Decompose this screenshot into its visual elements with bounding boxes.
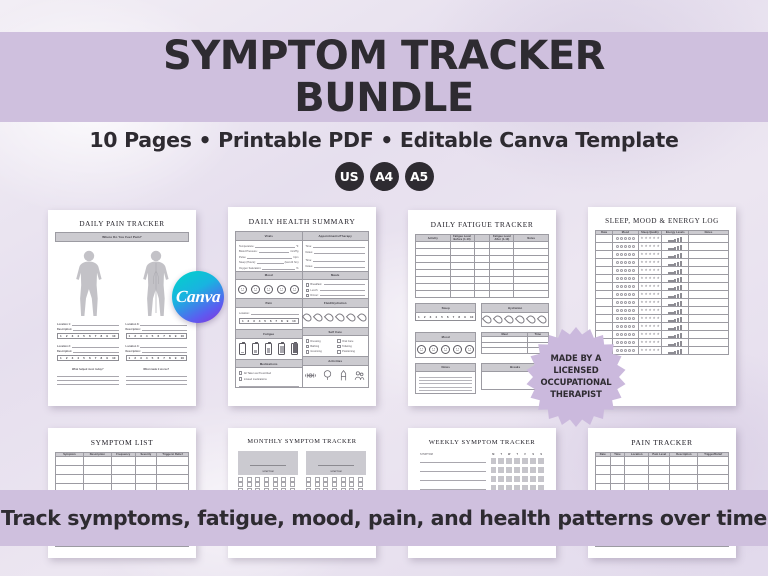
energy-bar-icon[interactable] [668, 320, 670, 322]
battery-level-5-icon[interactable] [291, 343, 298, 355]
calendar-day-cell[interactable] [290, 482, 295, 487]
table-cell[interactable] [649, 466, 670, 475]
calendar-day-cell[interactable] [358, 482, 363, 487]
star-icon[interactable]: ★ [657, 301, 660, 304]
table-row[interactable]: ★★★★★ [596, 243, 729, 251]
energy-bar-icon[interactable] [680, 349, 682, 355]
writing-line[interactable] [126, 381, 188, 385]
cell-notes[interactable] [689, 323, 729, 331]
water-drop-icon[interactable] [302, 312, 313, 323]
cell-date[interactable] [596, 315, 613, 323]
calendar-day-cell[interactable] [264, 477, 269, 482]
table-cell[interactable] [610, 475, 625, 484]
energy-bar-icon[interactable] [674, 343, 676, 347]
writing-line[interactable] [419, 388, 472, 391]
energy-bar-icon[interactable] [677, 334, 679, 339]
calendar-day-cell[interactable] [306, 477, 311, 482]
star-icon[interactable]: ★ [653, 341, 656, 344]
table-row[interactable]: ★★★★★ [596, 251, 729, 259]
energy-bar-icon[interactable] [680, 309, 682, 315]
cell-notes[interactable] [689, 291, 729, 299]
calendar-day-cell[interactable] [349, 482, 354, 487]
weekday-checkbox[interactable] [514, 458, 520, 464]
cell-notes[interactable] [689, 243, 729, 251]
star-icon[interactable]: ★ [640, 333, 643, 336]
energy-bar-icon[interactable] [671, 328, 673, 331]
cell-energy-levels[interactable] [662, 331, 689, 339]
star-icon[interactable]: ★ [653, 301, 656, 304]
star-icon[interactable]: ★ [648, 237, 651, 240]
appt-time-1[interactable]: Time: [306, 245, 366, 248]
energy-bar-icon[interactable] [671, 256, 673, 259]
mood-circle-icon[interactable] [624, 301, 627, 304]
table-cell[interactable] [83, 475, 111, 484]
star-icon[interactable]: ★ [640, 277, 643, 280]
star-icon[interactable]: ★ [644, 317, 647, 320]
cell-notes[interactable] [689, 251, 729, 259]
table-row[interactable] [596, 457, 729, 466]
pain-block[interactable]: Location: 12345678910 [236, 308, 302, 330]
energy-bar-icon[interactable] [674, 287, 676, 291]
table-row[interactable]: ★★★★★ [596, 259, 729, 267]
energy-bar-icon[interactable] [680, 253, 682, 259]
preview-page-daily-health-summary[interactable]: DAILY HEALTH SUMMARY Vitals Temperature:… [228, 207, 376, 406]
calendar-day-cell[interactable] [323, 482, 328, 487]
table-cell[interactable] [111, 457, 135, 466]
location-row-1[interactable]: Location 1: [57, 323, 119, 326]
mood-circle-icon[interactable] [632, 333, 635, 336]
med-option-all-taken[interactable]: All Taken as Prescribed [239, 371, 299, 374]
cell-sleep-quality[interactable]: ★★★★★ [638, 251, 662, 259]
star-icon[interactable]: ★ [657, 293, 660, 296]
energy-bar-icon[interactable] [680, 269, 682, 275]
table-row[interactable]: ★★★★★ [596, 283, 729, 291]
cell-sleep-quality[interactable]: ★★★★★ [638, 243, 662, 251]
table-cell[interactable] [83, 457, 111, 466]
energy-bar-icon[interactable] [674, 263, 676, 267]
cell-mood[interactable] [613, 299, 638, 307]
energy-bar-icon[interactable] [668, 256, 670, 258]
star-icon[interactable]: ★ [648, 253, 651, 256]
fatigue-activity-table[interactable]: Activity Fatigue Level Before (1-10) Fat… [415, 234, 549, 298]
energy-bar-icon[interactable] [668, 272, 670, 274]
table-row[interactable]: ★★★★★ [596, 267, 729, 275]
weekday-checkbox[interactable] [498, 467, 504, 473]
cell-sleep-quality[interactable]: ★★★★★ [638, 291, 662, 299]
table-row[interactable] [416, 249, 549, 256]
star-icon[interactable]: ★ [653, 325, 656, 328]
cell-sleep-quality[interactable]: ★★★★★ [638, 259, 662, 267]
mood-circle-icon[interactable] [632, 317, 635, 320]
self-care-bathing[interactable]: Bathing [306, 345, 334, 348]
mood-circle-icon[interactable] [624, 293, 627, 296]
table-cell[interactable] [610, 457, 625, 466]
vitals-fields[interactable]: Temperature:°F Blood Pressure:mm/Hg Puls… [236, 241, 302, 271]
energy-bar-icon[interactable] [674, 279, 676, 283]
mood-face-row[interactable] [415, 342, 476, 358]
mood-circle-icon[interactable] [620, 309, 623, 312]
cell-notes[interactable] [689, 331, 729, 339]
energy-bar-icon[interactable] [671, 336, 673, 339]
energy-bar-icon[interactable] [680, 341, 682, 347]
cell-notes[interactable] [689, 315, 729, 323]
mood-circle-icon[interactable] [628, 237, 631, 240]
weekday-checkbox[interactable] [506, 458, 512, 464]
weekday-checkbox-row[interactable] [491, 476, 545, 482]
weekday-checkbox-row[interactable] [491, 467, 545, 473]
weekly-symptom-row[interactable] [420, 476, 544, 482]
star-icon[interactable]: ★ [657, 325, 660, 328]
star-icon[interactable]: ★ [657, 277, 660, 280]
cell-sleep-quality[interactable]: ★★★★★ [638, 267, 662, 275]
star-icon[interactable]: ★ [640, 341, 643, 344]
mood-circle-icon[interactable] [624, 269, 627, 272]
star-icon[interactable]: ★ [653, 269, 656, 272]
energy-bar-icon[interactable] [674, 351, 676, 355]
calendar-day-cell[interactable] [358, 477, 363, 482]
water-drop-icon[interactable] [313, 312, 324, 323]
energy-bar-icon[interactable] [668, 296, 670, 298]
mood-circle-icon[interactable] [620, 253, 623, 256]
self-care-grooming[interactable]: Grooming [306, 350, 334, 353]
cell-energy-levels[interactable] [662, 299, 689, 307]
table-row[interactable]: ★★★★★ [596, 315, 729, 323]
energy-bar-icon[interactable] [668, 240, 670, 242]
energy-bar-icon[interactable] [680, 301, 682, 307]
star-icon[interactable]: ★ [644, 349, 647, 352]
weekday-checkbox[interactable] [538, 467, 544, 473]
cell-notes[interactable] [689, 299, 729, 307]
star-icon[interactable]: ★ [657, 341, 660, 344]
mood-circle-icon[interactable] [620, 317, 623, 320]
water-drop-icon[interactable] [526, 314, 537, 325]
table-cell[interactable] [596, 466, 611, 475]
energy-bar-icon[interactable] [668, 328, 670, 330]
table-cell[interactable] [56, 466, 84, 475]
star-icon[interactable]: ★ [653, 317, 656, 320]
fatigue-battery-row[interactable] [236, 339, 302, 359]
star-icon[interactable]: ★ [648, 293, 651, 296]
location-row-4[interactable]: Location 4: [126, 345, 188, 348]
cell-mood[interactable] [613, 307, 638, 315]
star-icon[interactable]: ★ [653, 333, 656, 336]
table-row[interactable] [416, 291, 549, 298]
energy-bar-icon[interactable] [680, 333, 682, 339]
star-icon[interactable]: ★ [653, 277, 656, 280]
table-row[interactable]: ★★★★★ [596, 275, 729, 283]
self-care-dressing[interactable]: Dressing [306, 339, 334, 342]
weekday-checkbox[interactable] [530, 458, 536, 464]
calendar-day-cell[interactable] [281, 482, 286, 487]
star-icon[interactable]: ★ [640, 293, 643, 296]
energy-bar-icon[interactable] [677, 302, 679, 307]
mood-circle-icon[interactable] [628, 245, 631, 248]
self-care-positioning[interactable]: Positioning [337, 350, 365, 353]
energy-bar-icon[interactable] [677, 238, 679, 243]
star-icon[interactable]: ★ [653, 349, 656, 352]
water-drop-icon[interactable] [537, 314, 548, 325]
mood-face-neutral-icon[interactable] [264, 285, 273, 294]
star-icon[interactable]: ★ [653, 261, 656, 264]
cell-notes[interactable] [689, 283, 729, 291]
star-icon[interactable]: ★ [640, 245, 643, 248]
cell-energy-levels[interactable] [662, 291, 689, 299]
calendar-day-cell[interactable] [247, 477, 252, 482]
mood-circle-icon[interactable] [632, 237, 635, 240]
energy-bar-icon[interactable] [671, 352, 673, 355]
mood-circle-icon[interactable] [628, 269, 631, 272]
table-row[interactable] [416, 270, 549, 277]
cell-notes[interactable] [689, 339, 729, 347]
cell-date[interactable] [596, 283, 613, 291]
sleep-scale[interactable]: 12345678910 [415, 313, 476, 321]
writing-line[interactable] [239, 382, 299, 387]
mood-circle-icon[interactable] [632, 261, 635, 264]
table-cell[interactable] [157, 475, 189, 484]
weekday-checkbox[interactable] [538, 458, 544, 464]
mood-circle-icon[interactable] [620, 301, 623, 304]
cell-energy-levels[interactable] [662, 267, 689, 275]
table-cell[interactable] [670, 457, 698, 466]
mood-circle-icon[interactable] [632, 285, 635, 288]
table-cell[interactable] [135, 466, 156, 475]
table-cell[interactable] [649, 457, 670, 466]
star-icon[interactable]: ★ [657, 269, 660, 272]
calendar-day-cell[interactable] [273, 477, 278, 482]
star-icon[interactable]: ★ [648, 269, 651, 272]
star-icon[interactable]: ★ [640, 317, 643, 320]
star-icon[interactable]: ★ [657, 245, 660, 248]
energy-bar-icon[interactable] [674, 255, 676, 259]
mood-circle-icon[interactable] [632, 341, 635, 344]
energy-bar-icon[interactable] [677, 278, 679, 283]
star-icon[interactable]: ★ [644, 341, 647, 344]
star-icon[interactable]: ★ [644, 285, 647, 288]
checkbox-icon[interactable] [337, 345, 340, 348]
table-cell[interactable] [83, 466, 111, 475]
mood-circle-icon[interactable] [628, 301, 631, 304]
energy-bar-icon[interactable] [677, 294, 679, 299]
mood-circle-icon[interactable] [620, 269, 623, 272]
energy-bar-icon[interactable] [671, 320, 673, 323]
mood-circle-icon[interactable] [632, 253, 635, 256]
energy-bar-icon[interactable] [671, 272, 673, 275]
table-row[interactable] [56, 457, 189, 466]
star-icon[interactable]: ★ [657, 309, 660, 312]
star-icon[interactable]: ★ [648, 285, 651, 288]
calendar-day-cell[interactable] [315, 482, 320, 487]
star-icon[interactable]: ★ [644, 325, 647, 328]
description-row-3[interactable]: Description: [126, 328, 188, 331]
mood-face-low-icon[interactable] [251, 285, 260, 294]
cell-energy-levels[interactable] [662, 235, 689, 243]
energy-bar-icon[interactable] [680, 325, 682, 331]
star-icon[interactable]: ★ [640, 349, 643, 352]
field-pulse[interactable]: Pulse:bpm [239, 256, 299, 259]
table-row[interactable]: ★★★★★ [596, 235, 729, 243]
energy-bar-icon[interactable] [671, 280, 673, 283]
mood-circle-icon[interactable] [616, 261, 619, 264]
cell-mood[interactable] [613, 291, 638, 299]
star-icon[interactable]: ★ [648, 341, 651, 344]
weekday-checkbox[interactable] [514, 467, 520, 473]
mood-circle-icon[interactable] [632, 325, 635, 328]
star-icon[interactable]: ★ [640, 301, 643, 304]
checkbox-icon[interactable] [306, 283, 309, 286]
star-icon[interactable]: ★ [648, 333, 651, 336]
mood-circle-icon[interactable] [624, 317, 627, 320]
mood-face-sad-icon[interactable] [238, 285, 247, 294]
mood-circle-icon[interactable] [628, 261, 631, 264]
water-drop-icon[interactable] [346, 312, 357, 323]
mood-circle-icon[interactable] [616, 277, 619, 280]
mood-circle-icon[interactable] [632, 293, 635, 296]
energy-bar-icon[interactable] [668, 312, 670, 314]
table-row[interactable] [596, 466, 729, 475]
mood-face-good-icon[interactable] [277, 285, 286, 294]
cell-energy-levels[interactable] [662, 315, 689, 323]
cell-date[interactable] [596, 275, 613, 283]
star-icon[interactable]: ★ [640, 261, 643, 264]
calendar-day-cell[interactable] [341, 477, 346, 482]
water-drop-icon[interactable] [335, 312, 346, 323]
energy-bar-icon[interactable] [668, 264, 670, 266]
cell-sleep-quality[interactable]: ★★★★★ [638, 283, 662, 291]
star-icon[interactable]: ★ [644, 277, 647, 280]
checkbox-icon[interactable] [306, 350, 309, 353]
mood-circle-icon[interactable] [628, 325, 631, 328]
energy-bar-icon[interactable] [668, 344, 670, 346]
mood-circle-icon[interactable] [628, 285, 631, 288]
mood-circle-icon[interactable] [632, 301, 635, 304]
weekday-checkbox[interactable] [506, 467, 512, 473]
mood-circle-icon[interactable] [616, 317, 619, 320]
star-icon[interactable]: ★ [657, 237, 660, 240]
location-row-2[interactable]: Location 2: [57, 345, 119, 348]
table-cell[interactable] [698, 466, 729, 475]
table-row[interactable]: ★★★★★ [596, 307, 729, 315]
canva-logo-icon[interactable]: Canva [172, 271, 224, 323]
table-row[interactable] [596, 475, 729, 484]
mood-circle-icon[interactable] [620, 277, 623, 280]
star-icon[interactable]: ★ [644, 237, 647, 240]
mood-circle-icon[interactable] [632, 245, 635, 248]
cell-energy-levels[interactable] [662, 323, 689, 331]
table-cell[interactable] [625, 466, 649, 475]
energy-bar-icon[interactable] [674, 311, 676, 315]
pain-scale-4[interactable]: 12345678910 [126, 355, 188, 361]
weekday-checkbox[interactable] [522, 458, 528, 464]
cell-sleep-quality[interactable]: ★★★★★ [638, 331, 662, 339]
appt-notes-2[interactable]: Notes: [306, 265, 366, 268]
weekday-checkbox-row[interactable] [491, 458, 545, 464]
water-drop-icon[interactable] [515, 314, 526, 325]
cell-sleep-quality[interactable]: ★★★★★ [638, 307, 662, 315]
weekday-checkbox[interactable] [530, 476, 536, 482]
cell-sleep-quality[interactable]: ★★★★★ [638, 323, 662, 331]
table-row[interactable] [56, 466, 189, 475]
star-icon[interactable]: ★ [657, 317, 660, 320]
cell-notes[interactable] [689, 347, 729, 355]
mood-face-happy-icon[interactable] [290, 285, 299, 294]
energy-bar-icon[interactable] [671, 240, 673, 243]
table-row[interactable] [56, 475, 189, 484]
weekday-checkbox[interactable] [498, 458, 504, 464]
energy-bar-icon[interactable] [674, 319, 676, 323]
cell-energy-levels[interactable] [662, 259, 689, 267]
star-icon[interactable]: ★ [648, 277, 651, 280]
energy-bar-icon[interactable] [677, 326, 679, 331]
cell-energy-levels[interactable] [662, 243, 689, 251]
cell-mood[interactable] [613, 235, 638, 243]
mood-face-neutral-icon[interactable] [441, 345, 450, 354]
cell-energy-levels[interactable] [662, 275, 689, 283]
calendar-day-cell[interactable] [332, 482, 337, 487]
weekday-checkbox[interactable] [514, 476, 520, 482]
table-cell[interactable] [56, 457, 84, 466]
calendar-day-cell[interactable] [349, 477, 354, 482]
weekday-checkbox[interactable] [522, 476, 528, 482]
checkbox-icon[interactable] [239, 377, 242, 380]
energy-bar-icon[interactable] [671, 248, 673, 251]
star-icon[interactable]: ★ [653, 285, 656, 288]
mood-circle-icon[interactable] [628, 333, 631, 336]
cell-sleep-quality[interactable]: ★★★★★ [638, 339, 662, 347]
table-cell[interactable] [698, 475, 729, 484]
weekly-symptom-row[interactable] [420, 467, 544, 473]
table-cell[interactable] [157, 466, 189, 475]
water-drop-icon[interactable] [504, 314, 515, 325]
meal-dinner[interactable]: Dinner: [306, 294, 366, 297]
star-icon[interactable]: ★ [644, 301, 647, 304]
star-icon[interactable]: ★ [648, 325, 651, 328]
star-icon[interactable]: ★ [640, 325, 643, 328]
star-icon[interactable]: ★ [640, 253, 643, 256]
star-icon[interactable]: ★ [644, 245, 647, 248]
table-row[interactable] [416, 256, 549, 263]
calendar-day-cell[interactable] [332, 477, 337, 482]
mood-circle-icon[interactable] [616, 285, 619, 288]
activity-icon-row[interactable] [303, 366, 369, 385]
cell-energy-levels[interactable] [662, 251, 689, 259]
calendar-day-cell[interactable] [306, 482, 311, 487]
calendar-day-cell[interactable] [273, 482, 278, 487]
activity-rest-icon[interactable] [337, 369, 350, 382]
water-drop-icon[interactable] [493, 314, 504, 325]
cell-date[interactable] [596, 243, 613, 251]
table-cell[interactable] [610, 466, 625, 475]
calendar-day-cell[interactable] [264, 482, 269, 487]
self-care-block[interactable]: Dressing Bathing Grooming Oral Care Toil… [303, 336, 369, 356]
mood-circle-icon[interactable] [616, 253, 619, 256]
cell-date[interactable] [596, 307, 613, 315]
star-icon[interactable]: ★ [644, 261, 647, 264]
table-row[interactable]: ★★★★★ [596, 291, 729, 299]
mood-circle-icon[interactable] [628, 349, 631, 352]
star-icon[interactable]: ★ [644, 293, 647, 296]
battery-level-3-icon[interactable] [265, 343, 272, 355]
star-icon[interactable]: ★ [657, 261, 660, 264]
energy-bar-icon[interactable] [674, 335, 676, 339]
energy-bar-icon[interactable] [674, 303, 676, 307]
weekday-checkbox[interactable] [522, 467, 528, 473]
field-pain-location[interactable]: Location: [239, 312, 299, 315]
location-row-3[interactable]: Location 3: [126, 323, 188, 326]
energy-bar-icon[interactable] [680, 317, 682, 323]
star-icon[interactable]: ★ [657, 349, 660, 352]
activity-nature-icon[interactable] [321, 369, 334, 382]
activity-exercise-icon[interactable] [304, 369, 317, 382]
